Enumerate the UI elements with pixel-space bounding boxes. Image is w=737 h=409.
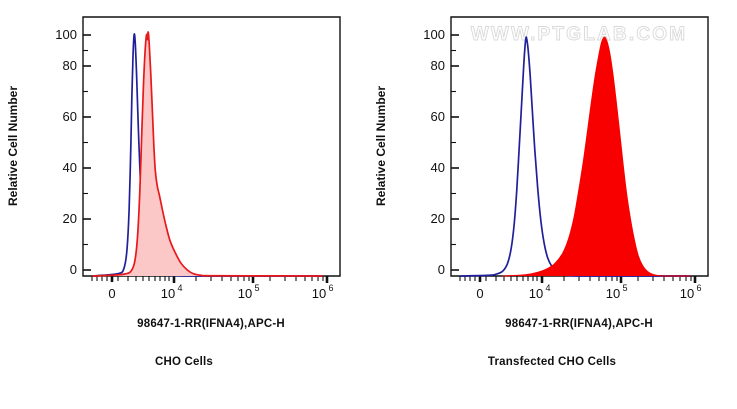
svg-text:10: 10 [680,286,694,301]
panel-cho-cells: Relative Cell Number 0 20 40 60 80 100 [0,0,368,409]
y-tick-labels-left: 0 20 40 60 80 100 [55,27,77,277]
watermark-text: WWW.PTGLAB.COM [471,24,688,45]
x-tick-1e6: 10 6 [680,283,702,301]
histogram-fill-solid [503,37,690,276]
y-tick-40: 40 [431,160,445,175]
y-tick-40: 40 [63,160,77,175]
svg-text:10: 10 [161,286,175,301]
histogram-curves-left [93,32,322,276]
x-axis-title-right: 98647-1-RR(IFNA4),APC-H [505,318,653,330]
plot-frame-left [83,17,340,276]
y-major-ticks-right [451,35,459,270]
y-tick-labels-right: 0 20 40 60 80 100 [423,27,445,277]
svg-text:10: 10 [529,286,543,301]
x-tick-0: 0 [108,286,115,301]
x-tick-labels-left: 0 10 4 10 5 10 6 [108,283,333,301]
histogram-line [93,34,322,276]
y-tick-100: 100 [55,27,77,42]
panel-right-plot: Relative Cell Number 0 20 40 60 80 100 W… [368,0,737,409]
svg-text:10: 10 [606,286,620,301]
svg-text:10: 10 [312,286,326,301]
y-tick-0: 0 [70,262,77,277]
svg-text:6: 6 [696,283,701,293]
x-axis-title-left: 98647-1-RR(IFNA4),APC-H [137,318,285,330]
panel-caption-right: Transfected CHO Cells [368,356,736,368]
panel-left-plot: Relative Cell Number 0 20 40 60 80 100 [0,0,368,409]
svg-text:4: 4 [177,283,182,293]
svg-text:6: 6 [328,283,333,293]
panel-caption-left: CHO Cells [0,356,368,368]
x-tick-1e5: 10 5 [606,283,628,301]
y-tick-80: 80 [63,58,77,73]
x-tick-0: 0 [476,286,483,301]
y-major-ticks-left [83,35,91,270]
svg-text:10: 10 [238,286,252,301]
x-ticks-right [460,276,695,283]
histogram-curves-right [461,37,690,276]
y-minor-ticks-left [83,51,88,245]
flow-cytometry-figure: Relative Cell Number 0 20 40 60 80 100 [0,0,737,409]
svg-text:4: 4 [545,283,550,293]
y-axis-title-left: Relative Cell Number [6,86,20,206]
svg-text:5: 5 [254,283,259,293]
y-tick-60: 60 [431,109,445,124]
panel-transfected-cho-cells: Relative Cell Number 0 20 40 60 80 100 W… [368,0,736,409]
y-tick-20: 20 [63,211,77,226]
y-tick-60: 60 [63,109,77,124]
x-tick-1e4: 10 4 [529,283,551,301]
y-tick-100: 100 [423,27,445,42]
x-tick-1e5: 10 5 [238,283,260,301]
x-tick-1e4: 10 4 [161,283,183,301]
y-tick-20: 20 [431,211,445,226]
y-tick-0: 0 [438,262,445,277]
x-ticks-left [92,276,327,283]
svg-text:5: 5 [622,283,627,293]
y-axis-title-right: Relative Cell Number [374,86,388,206]
x-tick-1e6: 10 6 [312,283,334,301]
y-tick-80: 80 [431,58,445,73]
y-minor-ticks-right [451,51,456,245]
x-tick-labels-right: 0 10 4 10 5 10 6 [476,283,701,301]
